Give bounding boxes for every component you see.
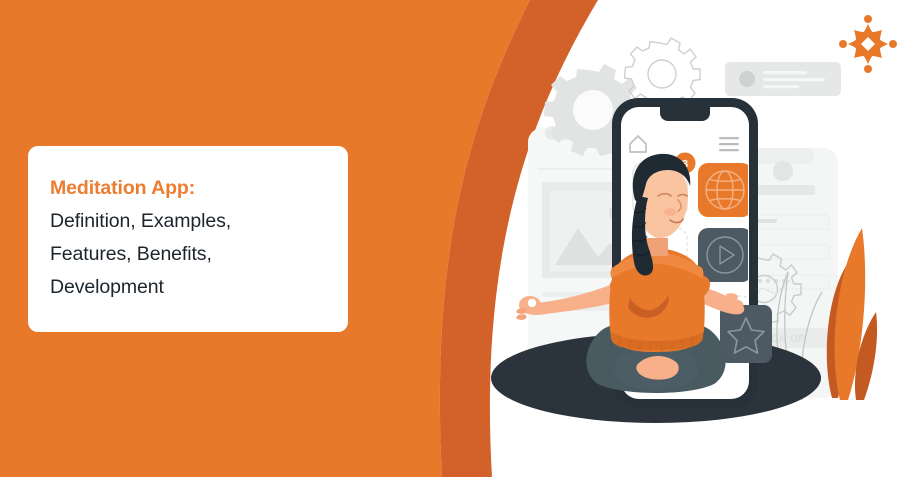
four-point-star-logo[interactable] bbox=[836, 12, 900, 76]
logo-dot-top bbox=[864, 15, 872, 23]
title-line-1: Definition, Examples, bbox=[50, 205, 324, 238]
title-accent-line: Meditation App: bbox=[50, 172, 324, 205]
title-line-3: Development bbox=[50, 271, 324, 304]
logo-dot-bottom bbox=[864, 65, 872, 73]
page-root: SIGN UP bbox=[0, 0, 914, 477]
user-avatar-icon bbox=[739, 71, 755, 87]
hamburger-menu-icon[interactable] bbox=[719, 137, 739, 151]
globe-tile[interactable] bbox=[698, 163, 752, 217]
logo-dot-left bbox=[839, 40, 847, 48]
cheek-blush bbox=[664, 208, 676, 216]
title-line-2: Features, Benefits, bbox=[50, 238, 324, 271]
phone-notch bbox=[660, 107, 710, 121]
star-rating-card bbox=[720, 305, 772, 363]
video-tile[interactable] bbox=[698, 228, 752, 282]
profile-card bbox=[725, 62, 841, 96]
title-card: Meditation App: Definition, Examples, Fe… bbox=[28, 146, 348, 332]
user-avatar-icon bbox=[773, 161, 793, 181]
logo-dot-right bbox=[889, 40, 897, 48]
